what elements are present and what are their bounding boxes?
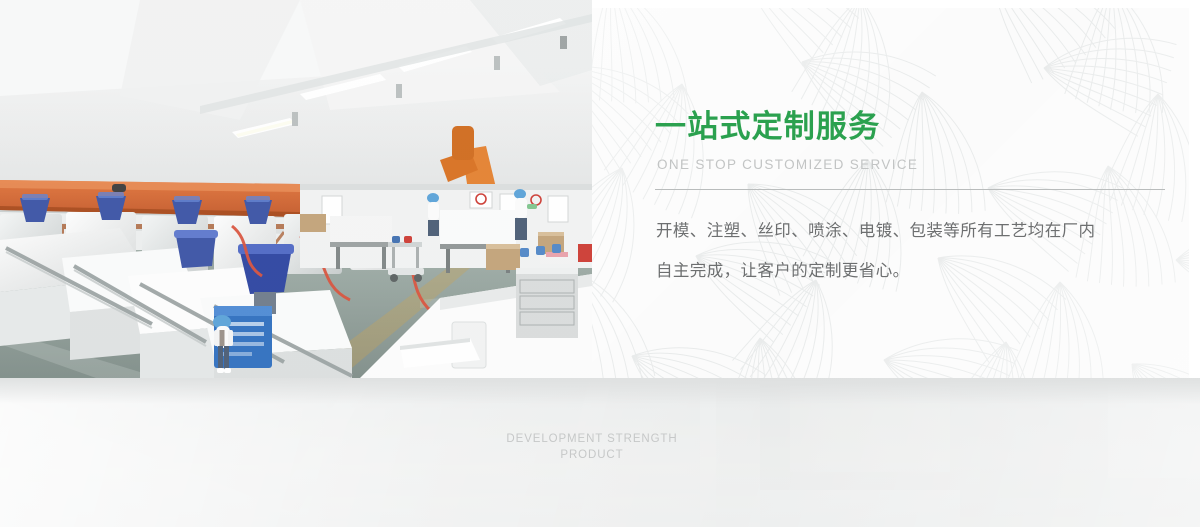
bottom-caption: DEVELOPMENT STRENGTH PRODUCT xyxy=(0,431,1184,463)
panel-title: 一站式定制服务 xyxy=(655,109,880,145)
page-root: DEVELOPMENT STRENGTH PRODUCT xyxy=(0,0,1200,527)
panel-subtitle: ONE STOP CUSTOMIZED SERVICE xyxy=(657,156,918,174)
ghost-top-fade xyxy=(0,378,1200,404)
panel-content: 一站式定制服务 ONE STOP CUSTOMIZED SERVICE 开模、注… xyxy=(655,8,1175,378)
one-stop-service-panel: 一站式定制服务 ONE STOP CUSTOMIZED SERVICE 开模、注… xyxy=(592,8,1189,378)
panel-body-text: 开模、注塑、丝印、喷涂、电镀、包装等所有工艺均在厂内 自主完成，让客户的定制更省… xyxy=(656,211,1146,291)
panel-divider xyxy=(655,189,1165,190)
factory-photo xyxy=(0,0,592,378)
panel-body-line-1: 开模、注塑、丝印、喷涂、电镀、包装等所有工艺均在厂内 xyxy=(656,211,1146,251)
panel-body-line-2: 自主完成，让客户的定制更省心。 xyxy=(656,251,1146,291)
